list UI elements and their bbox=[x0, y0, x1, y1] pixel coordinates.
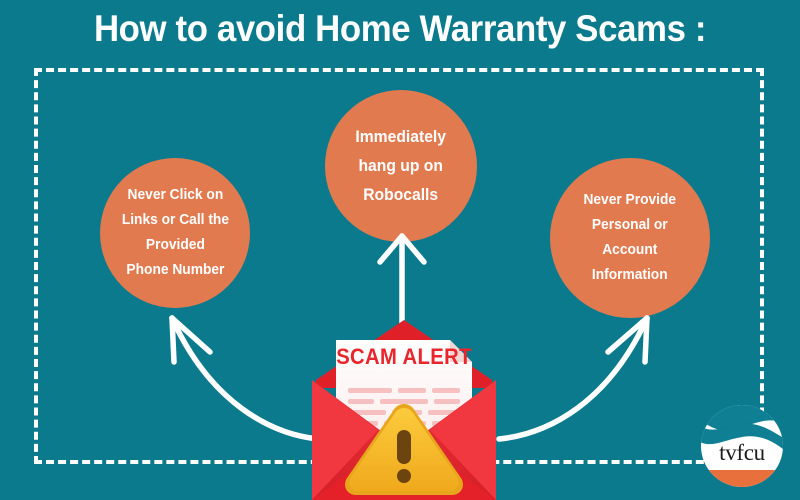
page-title: How to avoid Home Warranty Scams : bbox=[24, 4, 776, 54]
tip-left-line-3: Provided bbox=[146, 237, 205, 253]
tvfcu-logo bbox=[700, 404, 784, 488]
tip-bubble-right-text: Never Provide Personal or Account Inform… bbox=[574, 188, 686, 288]
scam-alert-envelope-illustration bbox=[306, 318, 502, 500]
tip-left-line-1: Never Click on bbox=[127, 187, 223, 203]
tip-right-line-4: Information bbox=[592, 267, 668, 283]
tip-right-line-1: Never Provide bbox=[584, 192, 677, 208]
tip-center-line-2: hang up on bbox=[359, 157, 443, 175]
tip-left-line-2: Links or Call the bbox=[121, 212, 228, 228]
tip-bubble-left-text: Never Click on Links or Call the Provide… bbox=[112, 183, 238, 283]
tip-bubble-hang-up-robocalls: Immediately hang up on Robocalls bbox=[325, 90, 477, 242]
tip-right-line-3: Account bbox=[602, 242, 657, 258]
tip-bubble-center-text: Immediately hang up on Robocalls bbox=[346, 123, 456, 210]
infographic-canvas: How to avoid Home Warranty Scams : Never… bbox=[0, 0, 800, 500]
arrow-to-left-bubble-icon bbox=[150, 296, 320, 446]
tip-bubble-never-provide-info: Never Provide Personal or Account Inform… bbox=[550, 158, 710, 318]
tip-right-line-2: Personal or bbox=[592, 217, 668, 233]
tip-center-line-3: Robocalls bbox=[364, 186, 439, 204]
tip-left-line-4: Phone Number bbox=[126, 262, 224, 278]
tip-bubble-never-click-links: Never Click on Links or Call the Provide… bbox=[100, 158, 250, 308]
arrow-to-right-bubble-icon bbox=[495, 296, 670, 446]
tip-center-line-1: Immediately bbox=[356, 128, 447, 146]
